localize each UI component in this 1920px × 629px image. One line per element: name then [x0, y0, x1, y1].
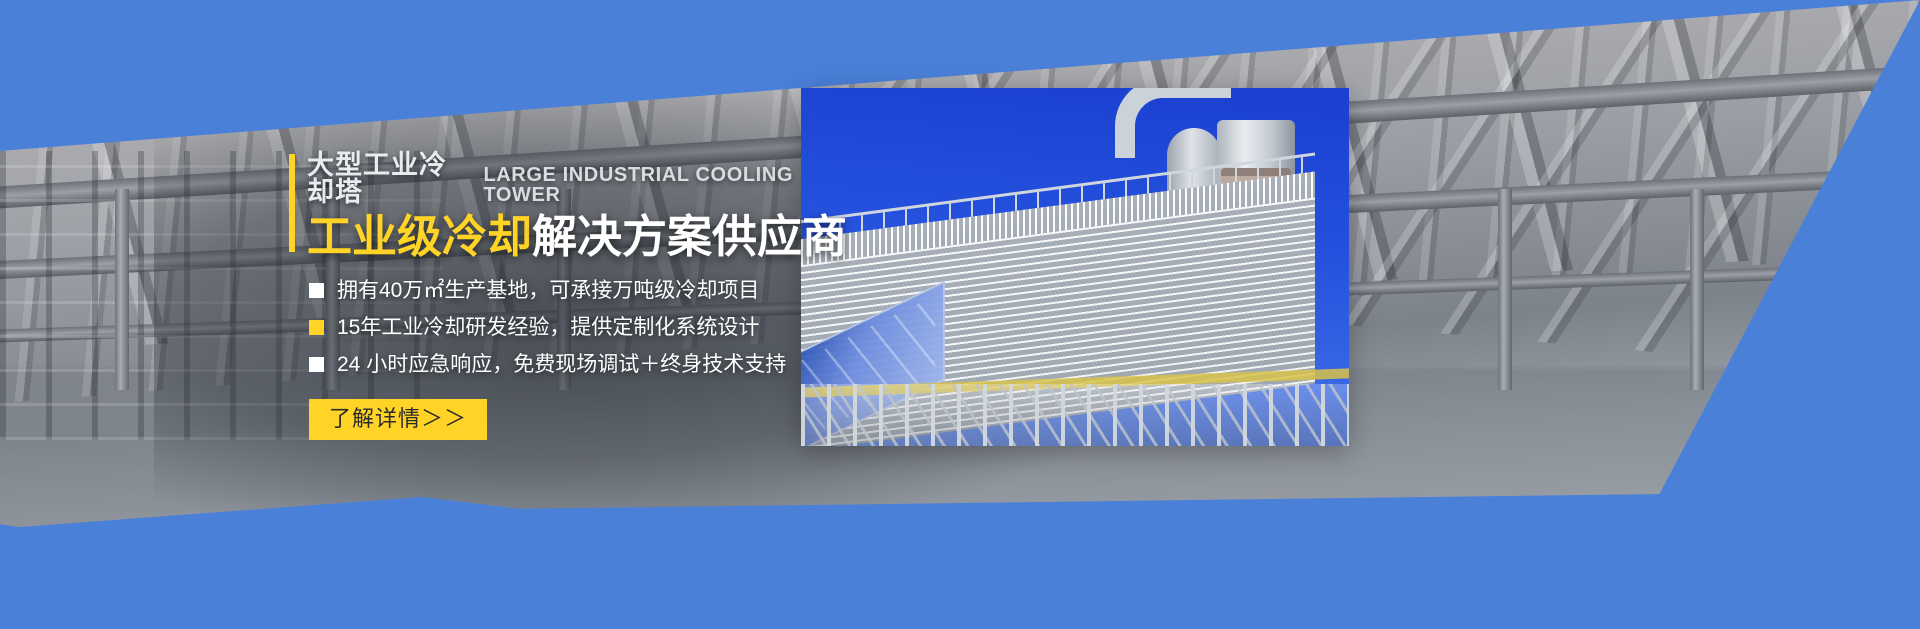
warehouse-column [1498, 189, 1512, 390]
eyebrow-english: LARGE INDUSTRIAL COOLING TOWER [483, 165, 809, 206]
warehouse-column [1690, 189, 1704, 390]
headline-rest: 解决方案供应商 [532, 211, 847, 262]
bullet-text: 24 小时应急响应，免费现场调试＋终身技术支持 [337, 354, 786, 375]
support-gantry-frame [801, 384, 1349, 446]
cooling-tower-photo [801, 88, 1349, 446]
bullet-text: 15年工业冷却研发经验，提供定制化系统设计 [337, 317, 759, 338]
feature-bullet-list: 拥有40万㎡生产基地，可承接万吨级冷却项目 15年工业冷却研发经验，提供定制化系… [289, 280, 809, 375]
white-square-bullet-icon [309, 283, 324, 298]
list-item: 拥有40万㎡生产基地，可承接万吨级冷却项目 [309, 280, 809, 301]
eyebrow-row: 大型工业冷却塔 LARGE INDUSTRIAL COOLING TOWER [289, 152, 809, 206]
list-item: 15年工业冷却研发经验，提供定制化系统设计 [309, 317, 809, 338]
page-title: 工业级冷却解决方案供应商 [289, 212, 809, 262]
yellow-square-bullet-icon [309, 320, 324, 335]
learn-more-button[interactable]: 了解详情＞＞ [309, 399, 487, 440]
eyebrow-chinese: 大型工业冷却塔 [307, 152, 469, 206]
hero-banner: 大型工业冷却塔 LARGE INDUSTRIAL COOLING TOWER 工… [0, 0, 1920, 629]
list-item: 24 小时应急响应，免费现场调试＋终身技术支持 [309, 354, 809, 375]
warehouse-column [115, 189, 129, 390]
white-square-bullet-icon [309, 357, 324, 372]
banner-copy-block: 大型工业冷却塔 LARGE INDUSTRIAL COOLING TOWER 工… [289, 152, 809, 440]
bullet-text: 拥有40万㎡生产基地，可承接万吨级冷却项目 [337, 280, 759, 301]
headline-highlight: 工业级冷却 [307, 211, 532, 262]
